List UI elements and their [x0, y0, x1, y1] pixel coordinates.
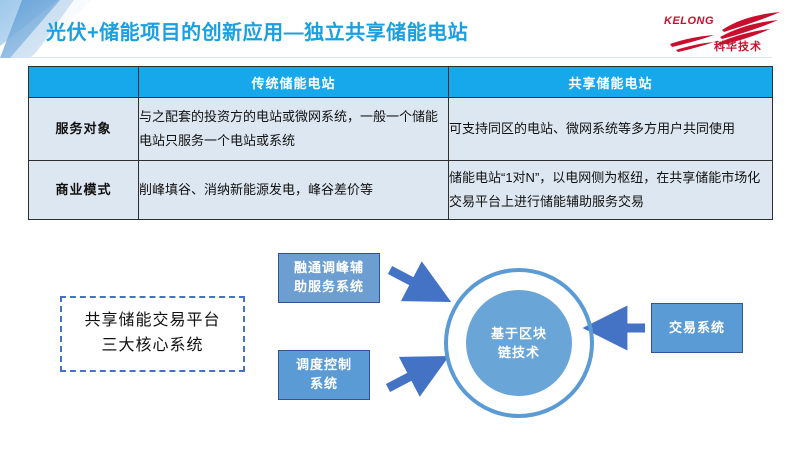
- box-rongtong-line1: 融通调峰辅: [294, 259, 364, 278]
- logo-chinese-name: 科华技术: [714, 38, 762, 54]
- core-line-1: 基于区块: [491, 324, 547, 344]
- row-label-service-target: 服务对象: [29, 98, 139, 161]
- table-header-row: 传统储能电站 共享储能电站: [29, 67, 773, 98]
- comparison-table: 传统储能电站 共享储能电站 服务对象 与之配套的投资方的电站或微网系统，一般一个…: [28, 66, 773, 220]
- row-label-business-model: 商业模式: [29, 161, 139, 220]
- table-col-corner: [29, 67, 139, 98]
- box-dispatch-control-system[interactable]: 调度控制 系统: [278, 350, 370, 400]
- cell-business-shared: 储能电站“1对N”，以电网侧为枢纽，在共享储能市场化交易平台上进行储能辅助服务交…: [449, 161, 773, 220]
- page-title: 光伏+储能项目的创新应用—独立共享储能电站: [46, 16, 468, 45]
- box-trading-system[interactable]: 交易系统: [651, 303, 743, 353]
- table-row: 服务对象 与之配套的投资方的电站或微网系统，一般一个储能电站只服务一个电站或系统…: [29, 98, 773, 161]
- table-col-shared: 共享储能电站: [449, 67, 773, 98]
- box-jiaoyi-line1: 交易系统: [669, 319, 725, 338]
- brand-logo: KELONG 科华技术: [662, 8, 784, 54]
- architecture-diagram: 共享储能交易平台 三大核心系统 融通调峰辅 助服务系统 调度控制 系统 交易系统…: [0, 238, 800, 450]
- core-blockchain-circle[interactable]: 基于区块 链技术: [466, 290, 572, 396]
- box-diaodu-line2: 系统: [296, 375, 352, 394]
- caption-line-1: 共享储能交易平台: [84, 309, 220, 334]
- slide-canvas: 光伏+储能项目的创新应用—独立共享储能电站 KELONG 科华技术: [0, 0, 800, 450]
- logo-wordmark: KELONG: [664, 15, 714, 27]
- box-rongtong-line2: 助服务系统: [294, 278, 364, 297]
- cell-service-shared: 可支持同区的电站、微网系统等多方用户共同使用: [449, 98, 773, 161]
- arrow-rongtong-to-core: [390, 270, 432, 292]
- table-row: 商业模式 削峰填谷、消纳新能源发电，峰谷差价等 储能电站“1对N”，以电网侧为枢…: [29, 161, 773, 220]
- cell-service-traditional: 与之配套的投资方的电站或微网系统，一般一个储能电站只服务一个电站或系统: [139, 98, 449, 161]
- cell-business-traditional: 削峰填谷、消纳新能源发电，峰谷差价等: [139, 161, 449, 220]
- box-rongtong-system[interactable]: 融通调峰辅 助服务系统: [278, 253, 380, 303]
- header-divider: [28, 57, 772, 58]
- arrow-diaodu-to-core: [388, 366, 430, 388]
- platform-caption-box: 共享储能交易平台 三大核心系统: [60, 296, 245, 372]
- table-col-traditional: 传统储能电站: [139, 67, 449, 98]
- core-line-2: 链技术: [498, 343, 540, 363]
- box-diaodu-line1: 调度控制: [296, 356, 352, 375]
- slide-header: 光伏+储能项目的创新应用—独立共享储能电站 KELONG 科华技术: [0, 0, 800, 58]
- caption-line-2: 三大核心系统: [101, 334, 203, 359]
